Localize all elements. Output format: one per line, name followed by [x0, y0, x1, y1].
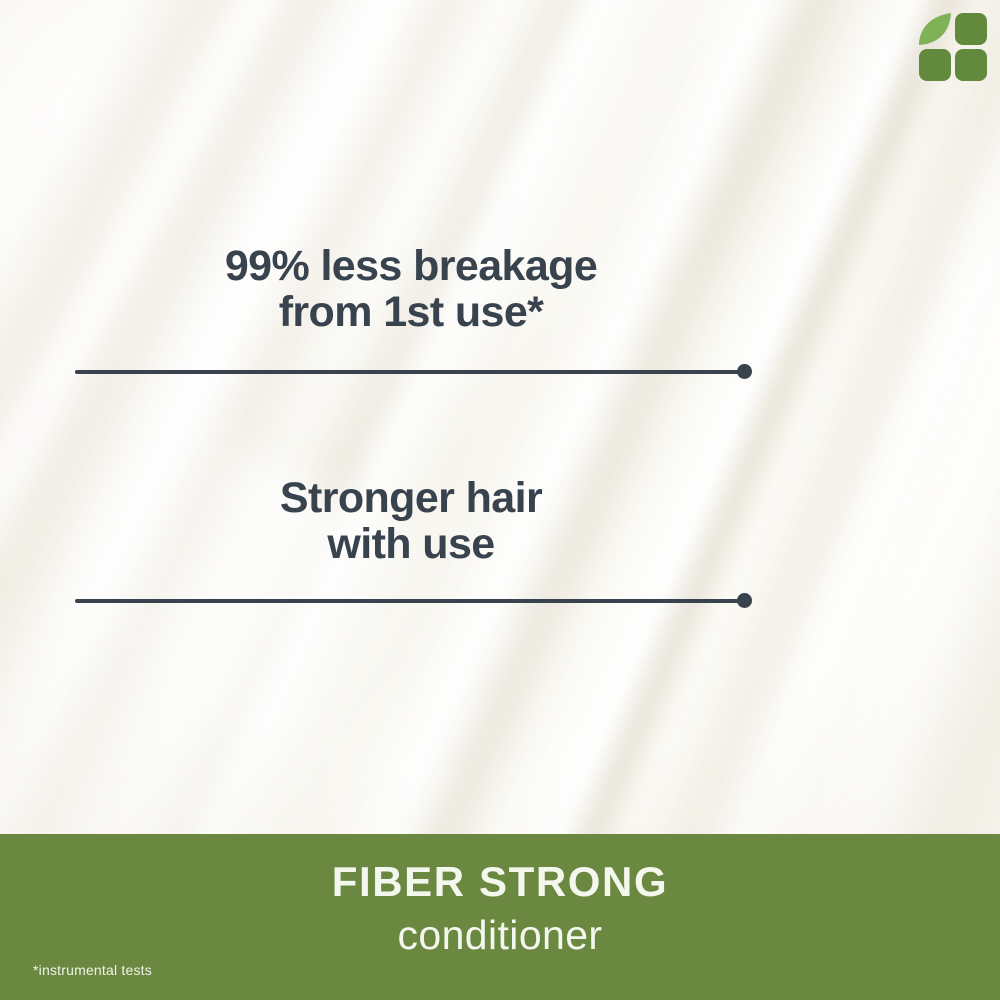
cream-texture-background	[0, 0, 1000, 834]
logo-tiles	[919, 13, 987, 81]
claim-end-dot-strength	[737, 593, 752, 608]
product-type-name: conditioner	[0, 912, 1000, 959]
product-line-name: FIBER STRONG	[0, 858, 1000, 906]
claim-block-strength: Stronger hair with use	[75, 475, 747, 567]
claim-rule-strength	[75, 599, 740, 603]
footnote-disclaimer: *instrumental tests	[33, 962, 152, 978]
claim-rule-breakage	[75, 370, 740, 374]
claim-text-breakage: 99% less breakage from 1st use*	[75, 243, 747, 335]
background-vignette	[0, 0, 1000, 834]
claim-end-dot-breakage	[737, 364, 752, 379]
product-claim-ad: 99% less breakage from 1st use* Stronger…	[0, 0, 1000, 1000]
product-name-banner: FIBER STRONG conditioner *instrumental t…	[0, 834, 1000, 1000]
garnier-leaf-square-logo	[916, 10, 990, 84]
claim-block-breakage: 99% less breakage from 1st use*	[75, 243, 747, 335]
claim-text-strength: Stronger hair with use	[75, 475, 747, 567]
